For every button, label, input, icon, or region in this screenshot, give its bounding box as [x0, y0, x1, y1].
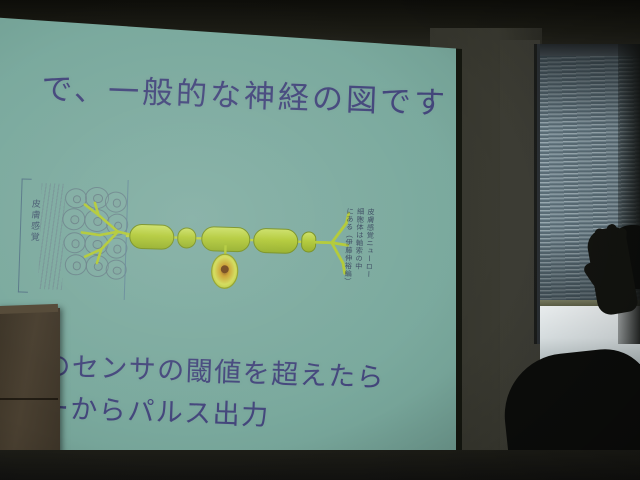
lecture-room-photo: で、一般的な神経の図です 皮膚感覚: [0, 0, 640, 480]
slide-title: で、一般的な神経の図です: [41, 72, 442, 121]
figure-right-caption: 皮膚感覚ニューロー 細胞体は軸索の中 にある（伊藤伸裕編）: [342, 207, 376, 300]
myelin-segment-3: [253, 228, 298, 253]
slide-body-text: のセンサの閾値を超えたら ーからパルス出力: [41, 346, 456, 444]
projection-screen: で、一般的な神経の図です 皮膚感覚: [0, 16, 456, 468]
neuron-svg: [3, 168, 447, 323]
myelin-segment-1: [129, 224, 174, 249]
floor-shadow: [0, 450, 640, 480]
neuron-diagram: 皮膚感覚: [3, 168, 447, 323]
node-of-ranvier-1: [177, 228, 196, 249]
node-of-ranvier-2: [301, 232, 316, 252]
foreground-chair-seam: [0, 398, 58, 400]
